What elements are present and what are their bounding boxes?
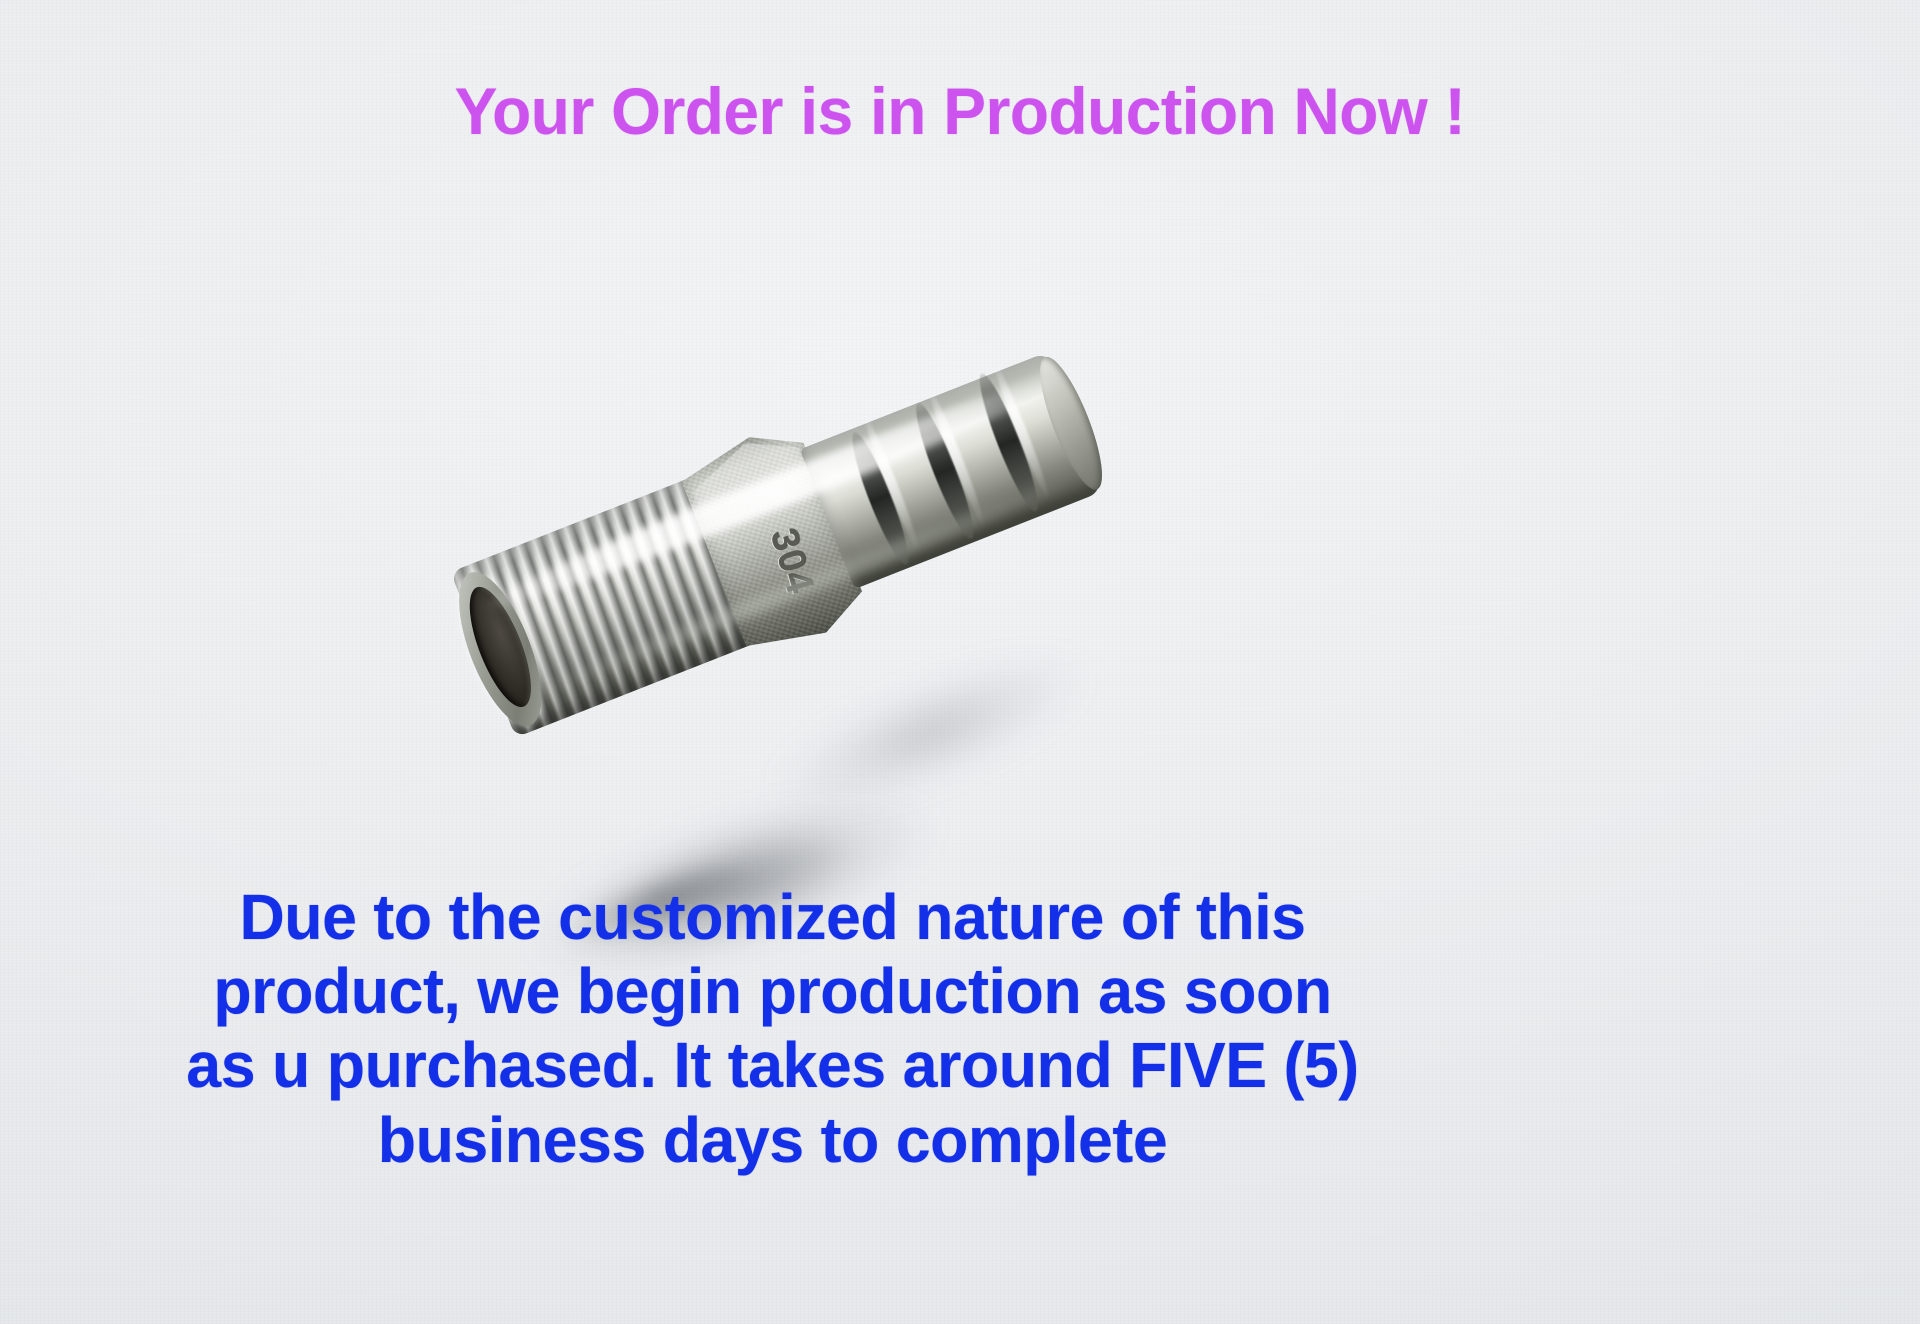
promo-banner: Your Order is in Production Now ! 304 [0,0,1920,1324]
notice-line-1: Due to the customized nature of this [15,880,1529,954]
notice-line-3: as u purchased. It takes around FIVE (5) [15,1028,1529,1102]
product-photo: 304 [0,215,1545,775]
notice-line-4: business days to complete [15,1103,1529,1177]
production-notice: Due to the customized nature of this pro… [0,880,1545,1177]
page-title: Your Order is in Production Now ! [29,78,1891,145]
notice-line-2: product, we begin production as soon [15,954,1529,1028]
